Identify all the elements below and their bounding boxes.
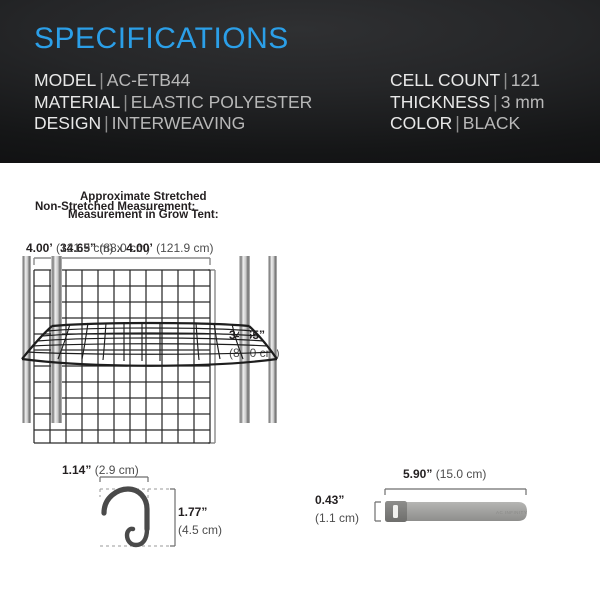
spec-separator: | xyxy=(490,92,501,112)
velcro-strap-drawing: AC INFINITY xyxy=(300,453,600,600)
spec-label: COLOR xyxy=(390,113,452,133)
spec-value: AC-ETB44 xyxy=(107,70,191,90)
spec-header-banner: SPECIFICATIONS MODEL|AC-ETB44 MATERIAL|E… xyxy=(0,0,600,163)
spec-label: DESIGN xyxy=(34,113,101,133)
spec-separator: | xyxy=(101,113,112,133)
spec-row-cell-count: CELL COUNT|121 xyxy=(390,70,544,92)
strap-width-bracket xyxy=(375,502,381,521)
spec-row-color: COLOR|BLACK xyxy=(390,113,544,135)
spec-value: BLACK xyxy=(463,113,520,133)
spec-value: 3 mm xyxy=(501,92,545,112)
panel-velcro-strap: 5.90” (15.0 cm) 0.43” (1.1 cm) xyxy=(300,453,600,600)
hook-width-bracket xyxy=(100,477,148,482)
strap-buckle-slot xyxy=(393,505,398,518)
spec-row-thickness: THICKNESS|3 mm xyxy=(390,92,544,114)
specification-sheet: SPECIFICATIONS MODEL|AC-ETB44 MATERIAL|E… xyxy=(0,0,600,600)
hook-height-bracket xyxy=(170,489,175,546)
strap-length-bracket xyxy=(385,489,526,495)
panel-stretched-in-tent: Approximate Stretched Measurement in Gro… xyxy=(0,163,300,453)
spec-separator: | xyxy=(96,70,107,90)
page-title: SPECIFICATIONS xyxy=(34,22,289,56)
spec-row-model: MODEL|AC-ETB44 xyxy=(34,70,312,92)
spec-label: MATERIAL xyxy=(34,92,120,112)
spec-label: THICKNESS xyxy=(390,92,490,112)
spec-label: CELL COUNT xyxy=(390,70,500,90)
diagram-area: Non-Stretched Measurement: 34.65” (88.0 … xyxy=(0,163,600,600)
spec-row-design: DESIGN|INTERWEAVING xyxy=(34,113,312,135)
spec-list-left: MODEL|AC-ETB44 MATERIAL|ELASTIC POLYESTE… xyxy=(34,70,312,135)
strap-brand-mark: AC INFINITY xyxy=(496,510,527,515)
s-hook-drawing xyxy=(0,453,300,600)
spec-separator: | xyxy=(120,92,131,112)
spec-value: 121 xyxy=(511,70,540,90)
spec-label: MODEL xyxy=(34,70,96,90)
spec-separator: | xyxy=(452,113,463,133)
panel-s-hook: 1.14” (2.9 cm) 1.77” (4.5 cm) xyxy=(0,453,300,600)
tent-net-drawing xyxy=(0,163,300,453)
strap-shape: AC INFINITY xyxy=(385,501,527,522)
tent-pole-back-left xyxy=(22,256,31,423)
spec-separator: | xyxy=(500,70,511,90)
spec-list-right: CELL COUNT|121 THICKNESS|3 mm COLOR|BLAC… xyxy=(390,70,544,135)
tent-pole-back-right xyxy=(268,256,277,423)
spec-row-material: MATERIAL|ELASTIC POLYESTER xyxy=(34,92,312,114)
spec-value: ELASTIC POLYESTER xyxy=(131,92,313,112)
s-hook-shape xyxy=(104,489,147,545)
spec-value: INTERWEAVING xyxy=(112,113,246,133)
